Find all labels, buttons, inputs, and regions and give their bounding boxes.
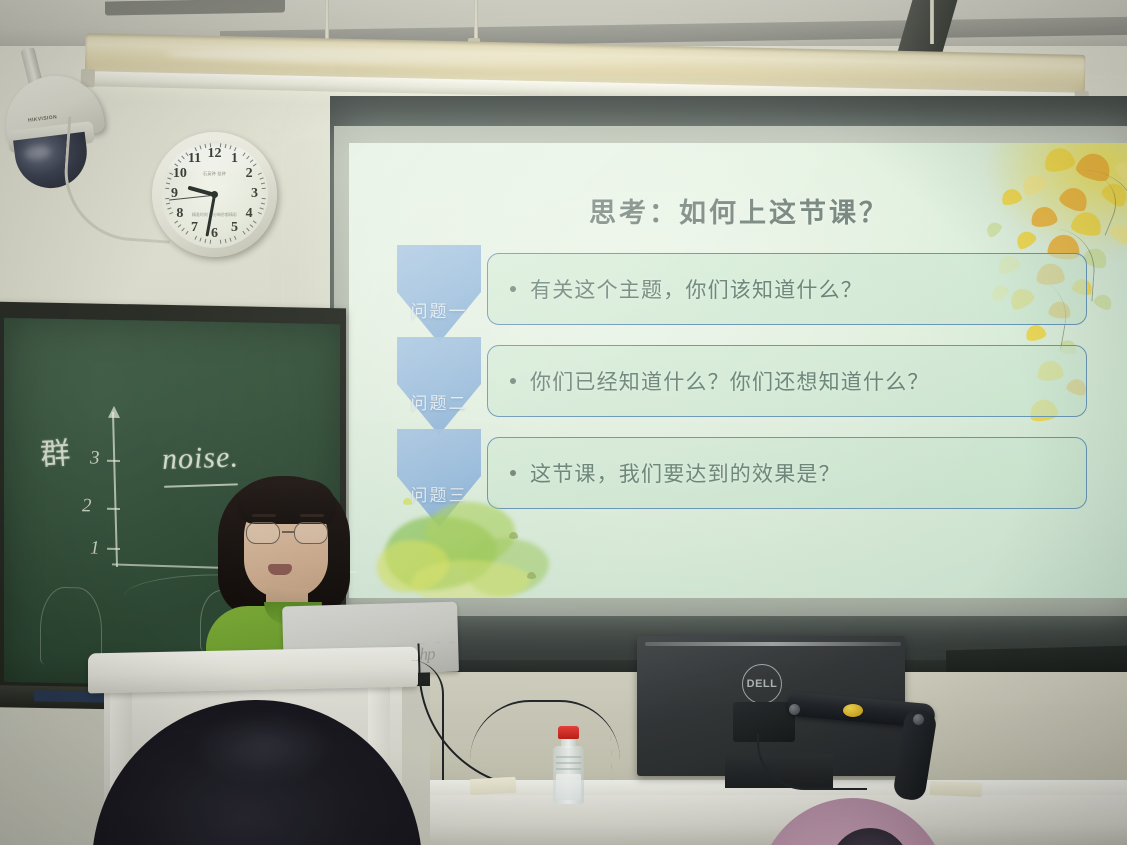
clock-numeral: 1 (226, 151, 244, 167)
glasses-lens (246, 522, 280, 544)
chalk-axis-tick (107, 548, 120, 550)
clock-tick (260, 183, 264, 185)
question-text: 有关这个主题，你们该知道什么？ (530, 274, 863, 304)
wall-clock: 石英钟 挂钟 精准时刻 每分每秒都精彩 121234567891011 (152, 132, 277, 257)
clock-tick (259, 177, 263, 179)
chalk-axis-vertical (112, 412, 118, 567)
clock-tick (249, 224, 253, 227)
question-box: 有关这个主题，你们该知道什么？ (487, 253, 1087, 325)
clock-numeral: 8 (171, 206, 189, 222)
dell-logo-text: DELL (747, 678, 778, 690)
clock-tick (224, 144, 226, 148)
clock-tick (204, 239, 206, 243)
clock-tick (224, 239, 226, 243)
splash-fleck (527, 572, 536, 579)
question-box: 这节课，我们要达到的效果是？ (487, 437, 1087, 509)
clock-tick (181, 228, 184, 232)
splash-fleck (509, 532, 518, 539)
dell-logo-icon: DELL (742, 664, 782, 704)
light-hanger-rod (930, 0, 934, 44)
clock-center-pin (211, 191, 218, 198)
clock-tick (246, 228, 249, 232)
chalk-axis-tick (107, 460, 120, 462)
clock-tick (257, 173, 261, 176)
bottle-rib (556, 756, 581, 758)
glasses-bridge (282, 531, 294, 533)
bottle-label (556, 774, 581, 800)
water-bottle[interactable] (552, 726, 585, 804)
bullet-icon (510, 286, 516, 292)
clock-tick (229, 238, 231, 242)
clock-numeral: 7 (186, 220, 204, 236)
slide-question-row: 问题一有关这个主题，你们该知道什么？ (397, 253, 1087, 333)
monitor-top-highlight (645, 642, 901, 646)
chalk-axis-arrow (108, 406, 120, 418)
chalk-axis-tick (107, 508, 120, 510)
clock-tick (177, 224, 181, 227)
question-text: 你们已经知道什么？你们还想知道什么？ (530, 366, 930, 396)
chevron-label: 问题一 (397, 297, 481, 322)
clock-tick (194, 236, 197, 240)
glasses-icon (244, 522, 330, 544)
glasses-lens (294, 522, 328, 544)
splash-blob (411, 560, 531, 598)
clock-brand-text: 石英钟 挂钟 (203, 171, 226, 177)
clock-numeral: 2 (240, 166, 258, 182)
clock-tick (167, 177, 171, 179)
chevron-label: 问题二 (397, 389, 481, 414)
arm-pivot (913, 714, 924, 725)
clock-tick (219, 240, 220, 244)
clock-numeral: 4 (240, 206, 258, 222)
paper-on-desk (470, 777, 517, 795)
clock-numeral: 11 (186, 151, 204, 167)
chevron-shape (397, 245, 481, 343)
light-hanger-rod (474, 0, 478, 40)
slide-question-row: 问题二你们已经知道什么？你们还想知道什么？ (397, 345, 1087, 425)
question-text: 这节课，我们要达到的效果是？ (530, 458, 841, 488)
clock-numeral: 10 (171, 166, 189, 182)
projected-slide: 思考：如何上这节课？ 问题一有关这个主题，你们该知道什么？问题二你们已经知道什么… (349, 143, 1127, 598)
bottle-rib (556, 768, 581, 770)
clock-tick (209, 240, 210, 244)
computer-monitor[interactable]: DELL (637, 628, 927, 796)
chalk-axis-label: 1 (90, 537, 100, 559)
chalk-axis-label: 3 (90, 447, 100, 469)
presenter-mouth (268, 564, 292, 575)
question-box: 你们已经知道什么？你们还想知道什么？ (487, 345, 1087, 417)
classroom-photo: HIKVISION 石英钟 挂钟 精准时刻 每分每秒都精彩 1212345678… (0, 0, 1127, 845)
lectern-top-surface (88, 647, 418, 694)
presenter-fringe (238, 480, 336, 524)
clock-tick (165, 203, 169, 205)
clock-brand-sub: 精准时刻 每分每秒都精彩 (192, 212, 237, 218)
slide-question-rows: 问题一有关这个主题，你们该知道什么？问题二你们已经知道什么？你们还想知道什么？问… (397, 253, 1087, 529)
bullet-icon (510, 470, 516, 476)
clock-tick (219, 143, 220, 147)
ginkgo-leaf-icon (1092, 292, 1114, 312)
clock-numeral: 12 (206, 146, 224, 162)
clock-tick (260, 203, 264, 205)
clock-tick (165, 183, 169, 185)
arm-adjust-knob[interactable] (843, 704, 863, 717)
bottle-neck (561, 738, 576, 748)
bullet-icon (510, 378, 516, 384)
chevron-shape (397, 337, 481, 435)
clock-tick (204, 144, 206, 148)
arm-pivot (789, 704, 800, 715)
clock-tick (199, 238, 201, 242)
clock-tick (209, 143, 210, 147)
clock-face: 石英钟 挂钟 精准时刻 每分每秒都精彩 121234567891011 (161, 141, 268, 248)
clock-tick (259, 207, 263, 209)
chalk-text-chinese: 群 (39, 428, 74, 474)
presenter-eyebrow (300, 514, 324, 517)
presenter-eyebrow (252, 514, 276, 517)
clock-tick (233, 236, 236, 240)
bottle-cap (558, 726, 579, 739)
paper-on-desk (930, 781, 982, 797)
bottle-rib (556, 762, 581, 764)
slide-title: 思考：如何上这节课？ (349, 191, 1127, 230)
chalk-axis-label: 2 (82, 495, 92, 517)
clock-numeral: 5 (226, 220, 244, 236)
clock-tick (261, 188, 265, 189)
